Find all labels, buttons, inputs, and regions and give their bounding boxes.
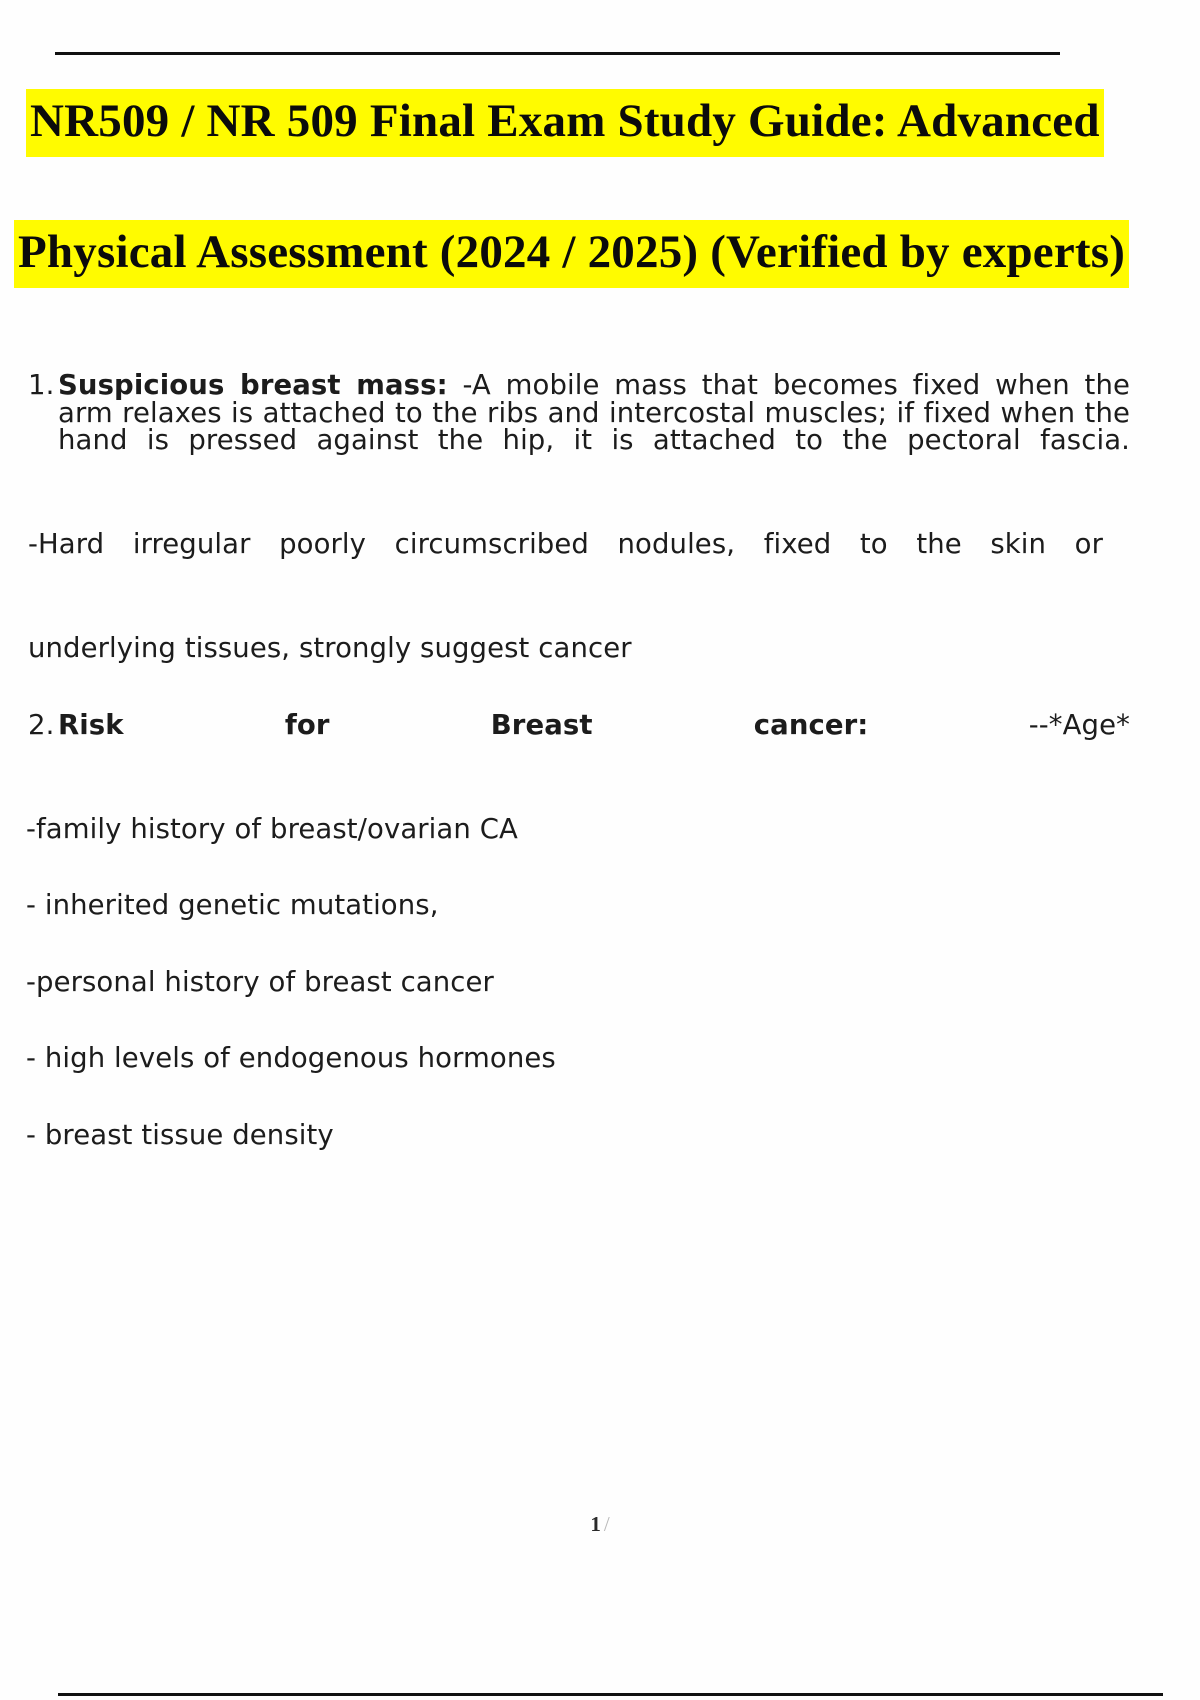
list-item-2: 2.Risk for Breast cancer: --*Age* [28, 712, 1130, 767]
title-line-1: NR509 / NR 509 Final Exam Study Guide: A… [0, 96, 1200, 147]
list-item-1: 1.Suspicious breast mass: -A mobile mass… [28, 372, 1130, 482]
list-item-1-number: 1. [28, 372, 54, 400]
title-line-2: Physical Assessment (2024 / 2025) (Verif… [0, 227, 1200, 278]
footer-rule [58, 1693, 1163, 1696]
title-line-2-text: Physical Assessment (2024 / 2025) (Verif… [14, 220, 1129, 288]
list-item-2-body: --*Age* [868, 709, 1130, 741]
list-item: - breast tissue density [26, 1122, 1200, 1150]
list-item-2-number: 2. [28, 712, 54, 740]
document-page: NR509 / NR 509 Final Exam Study Guide: A… [0, 0, 1200, 1700]
list-item: -family history of breast/ovarian CA [26, 816, 1200, 844]
title-line-1-text: NR509 / NR 509 Final Exam Study Guide: A… [26, 89, 1104, 157]
page-footer: 1/ [0, 1512, 1200, 1537]
header-rule [55, 52, 1060, 55]
list-item: -personal history of breast cancer [26, 969, 1200, 997]
list-item: - inherited genetic mutations, [26, 892, 1200, 920]
page-number-separator: / [604, 1512, 610, 1536]
item-1-dash-line-1: -Hard irregular poorly circumscribed nod… [28, 531, 1103, 586]
document-body: 1.Suspicious breast mass: -A mobile mass… [0, 372, 1200, 1198]
list-item-2-label: Risk for Breast cancer: [58, 709, 868, 741]
document-title: NR509 / NR 509 Final Exam Study Guide: A… [0, 96, 1200, 278]
item-1-dash-line-2: underlying tissues, strongly suggest can… [28, 635, 1200, 663]
list-item: - high levels of endogenous hormones [26, 1045, 1200, 1073]
page-number: 1 [590, 1512, 601, 1536]
